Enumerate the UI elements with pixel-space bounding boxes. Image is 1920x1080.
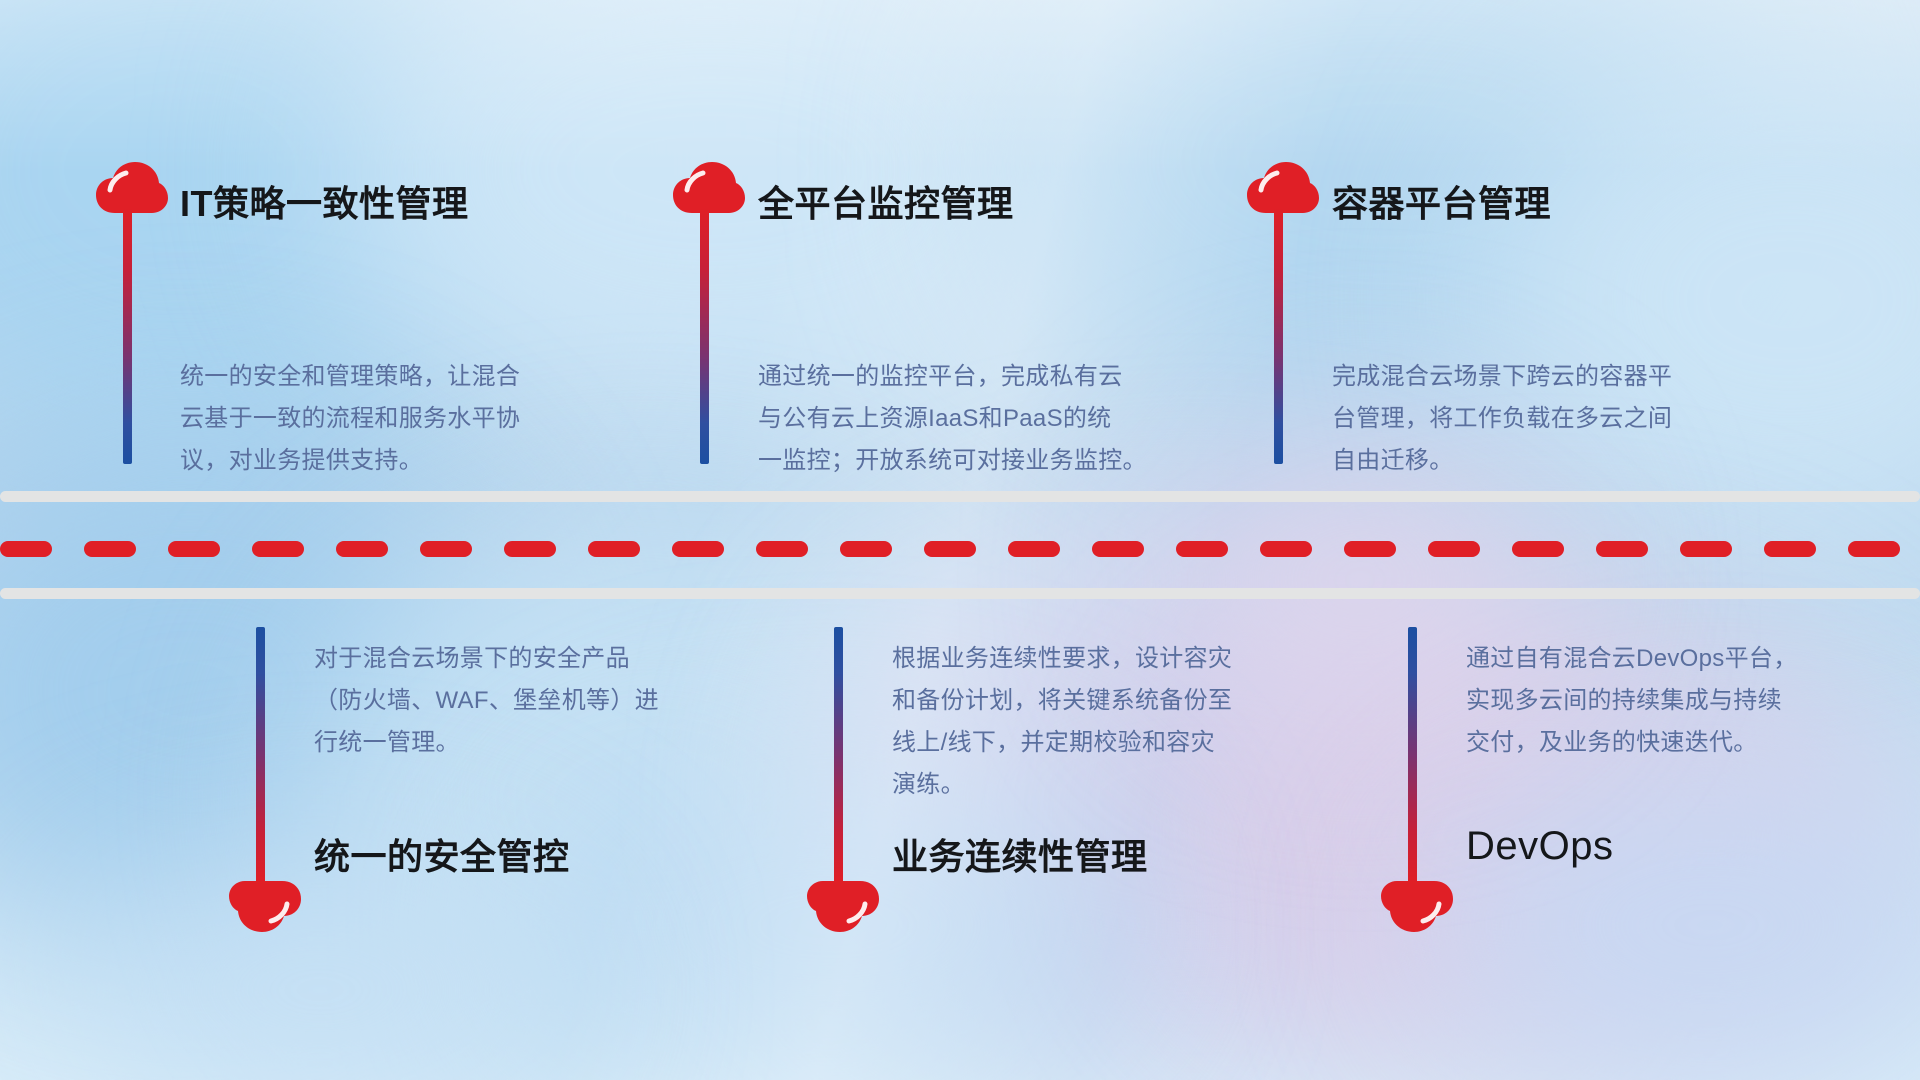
- body-line: 统一的安全和管理策略，让混合: [180, 356, 520, 398]
- body-line: 与公有云上资源IaaS和PaaS的统: [758, 398, 1147, 440]
- body-line: 线上/线下，并定期校验和容灾: [892, 722, 1232, 764]
- solid-rule-bottom: [0, 588, 1920, 599]
- stem-connector: [700, 208, 709, 464]
- feature-heading: DevOps: [1466, 824, 1614, 869]
- cloud-pin-icon: [1246, 160, 1320, 214]
- feature-body: 根据业务连续性要求，设计容灾 和备份计划，将关键系统备份至 线上/线下，并定期校…: [892, 638, 1232, 806]
- body-line: 台管理，将工作负载在多云之间: [1332, 398, 1672, 440]
- cloud-pin-icon: [806, 880, 880, 934]
- feature-body: 对于混合云场景下的安全产品 （防火墙、WAF、堡垒机等）进 行统一管理。: [314, 638, 659, 764]
- solid-rule-top: [0, 491, 1920, 502]
- body-line: 对于混合云场景下的安全产品: [314, 638, 659, 680]
- body-line: （防火墙、WAF、堡垒机等）进: [314, 680, 659, 722]
- body-line: 实现多云间的持续集成与持续: [1466, 680, 1798, 722]
- stem-connector: [1408, 627, 1417, 883]
- body-line: 交付，及业务的快速迭代。: [1466, 722, 1798, 764]
- cloud-pin-icon: [228, 880, 302, 934]
- cloud-pin-icon: [95, 160, 169, 214]
- stem-connector: [123, 208, 132, 464]
- body-line: 通过统一的监控平台，完成私有云: [758, 356, 1147, 398]
- feature-body: 通过统一的监控平台，完成私有云 与公有云上资源IaaS和PaaS的统 一监控；开…: [758, 356, 1147, 482]
- stem-connector: [1274, 208, 1283, 464]
- body-line: 云基于一致的流程和服务水平协: [180, 398, 520, 440]
- cloud-pin-icon: [1380, 880, 1454, 934]
- body-line: 行统一管理。: [314, 722, 659, 764]
- body-line: 完成混合云场景下跨云的容器平: [1332, 356, 1672, 398]
- feature-heading: 统一的安全管控: [314, 828, 570, 880]
- dashed-divider-line: [0, 541, 1920, 557]
- body-line: 和备份计划，将关键系统备份至: [892, 680, 1232, 722]
- body-line: 议，对业务提供支持。: [180, 440, 520, 482]
- feature-body: 通过自有混合云DevOps平台， 实现多云间的持续集成与持续 交付，及业务的快速…: [1466, 638, 1798, 764]
- stem-connector: [834, 627, 843, 883]
- feature-heading: 容器平台管理: [1332, 175, 1551, 227]
- stem-connector: [256, 627, 265, 883]
- feature-body: 统一的安全和管理策略，让混合 云基于一致的流程和服务水平协 议，对业务提供支持。: [180, 356, 520, 482]
- body-line: 自由迁移。: [1332, 440, 1672, 482]
- feature-body: 完成混合云场景下跨云的容器平 台管理，将工作负载在多云之间 自由迁移。: [1332, 356, 1672, 482]
- infographic-canvas: IT策略一致性管理 统一的安全和管理策略，让混合 云基于一致的流程和服务水平协 …: [0, 0, 1920, 1080]
- body-line: 通过自有混合云DevOps平台，: [1466, 638, 1798, 680]
- feature-heading: 业务连续性管理: [892, 828, 1148, 880]
- feature-heading: IT策略一致性管理: [180, 175, 469, 227]
- feature-heading: 全平台监控管理: [758, 175, 1014, 227]
- cloud-pin-icon: [672, 160, 746, 214]
- body-line: 根据业务连续性要求，设计容灾: [892, 638, 1232, 680]
- body-line: 演练。: [892, 764, 1232, 806]
- body-line: 一监控；开放系统可对接业务监控。: [758, 440, 1147, 482]
